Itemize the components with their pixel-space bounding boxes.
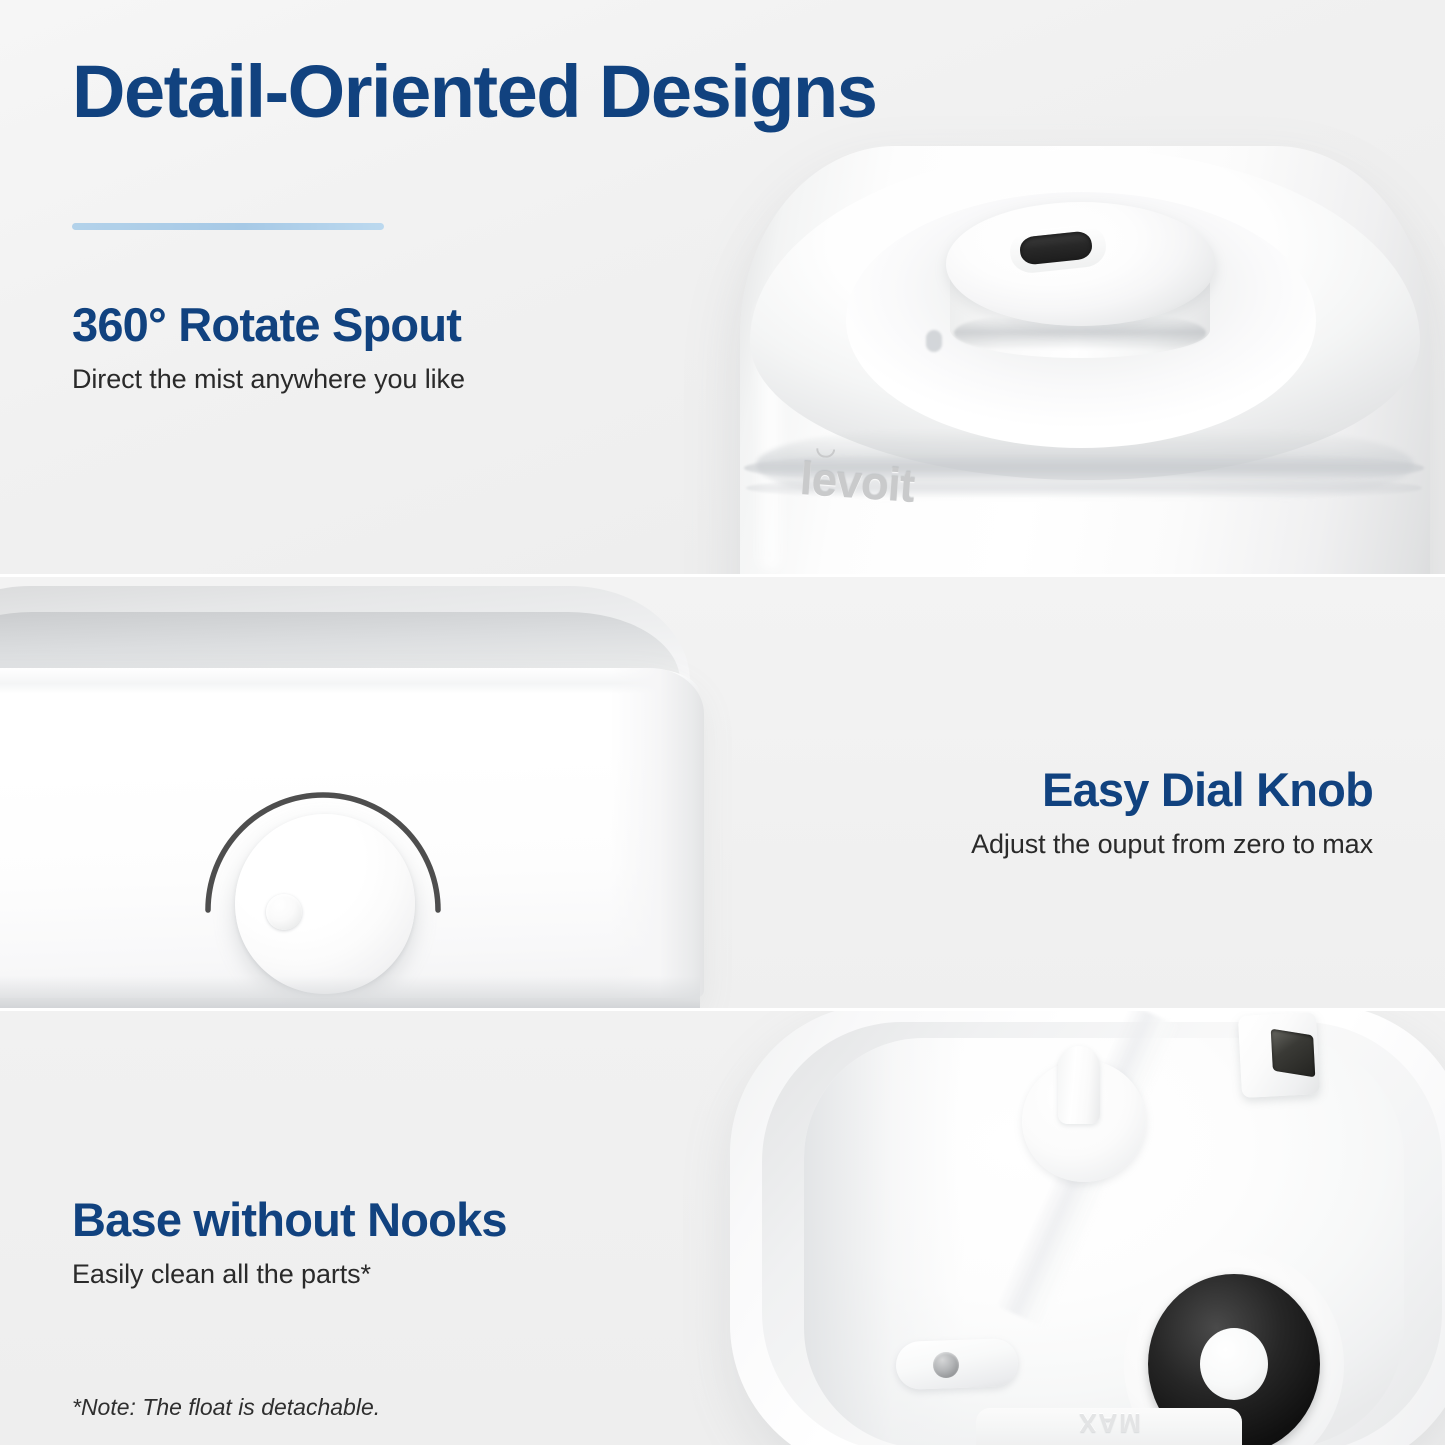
product-feature-page: levoit Detail-Oriented Designs 360° Rota… <box>0 0 1445 1445</box>
base-front-top-edge <box>0 668 700 694</box>
panel-divider-1 <box>0 574 1445 577</box>
feature-block-base: Base without Nooks Easily clean all the … <box>72 1195 507 1292</box>
feature-headline: Base without Nooks <box>72 1195 507 1244</box>
feature-block-rotate-spout: 360° Rotate Spout Direct the mist anywhe… <box>72 300 465 397</box>
feature-subtitle: Adjust the ouput from zero to max <box>971 828 1373 862</box>
base-right-curve <box>610 668 704 998</box>
feature-headline: Easy Dial Knob <box>971 765 1373 814</box>
water-sensor-slot <box>1271 1029 1316 1078</box>
panel-rotate-spout: levoit Detail-Oriented Designs 360° Rota… <box>0 0 1445 576</box>
dial-knob[interactable] <box>235 814 415 994</box>
base-bottom-shadow <box>0 976 700 1010</box>
footnote-text: *Note: The float is detachable. <box>72 1394 380 1421</box>
panel-dial-knob: OFF/ON MAX Easy Dial Knob Adjust the oup… <box>0 576 1445 1010</box>
transducer-center <box>1200 1328 1268 1400</box>
max-fill-label: MAX <box>1030 1407 1188 1438</box>
vent-mark-icon <box>926 330 942 352</box>
feature-block-dial-knob: Easy Dial Knob Adjust the ouput from zer… <box>971 765 1373 862</box>
panel-divider-2 <box>0 1008 1445 1011</box>
feature-subtitle: Easily clean all the parts* <box>72 1258 507 1292</box>
accent-divider <box>72 223 384 230</box>
levoit-logo: levoit <box>798 451 916 513</box>
feature-subtitle: Direct the mist anywhere you like <box>72 363 465 397</box>
float-post <box>1058 1046 1100 1124</box>
panel-base-without-nooks: MAX Base without Nooks Easily clean all … <box>0 1010 1445 1445</box>
humidifier-dial-photo <box>0 576 730 1010</box>
bracket-screw <box>933 1352 959 1378</box>
feature-headline: 360° Rotate Spout <box>72 300 465 349</box>
dial-knob-indicator <box>266 894 302 930</box>
humidifier-base-photo: MAX <box>700 1010 1445 1445</box>
page-title: Detail-Oriented Designs <box>72 55 876 129</box>
